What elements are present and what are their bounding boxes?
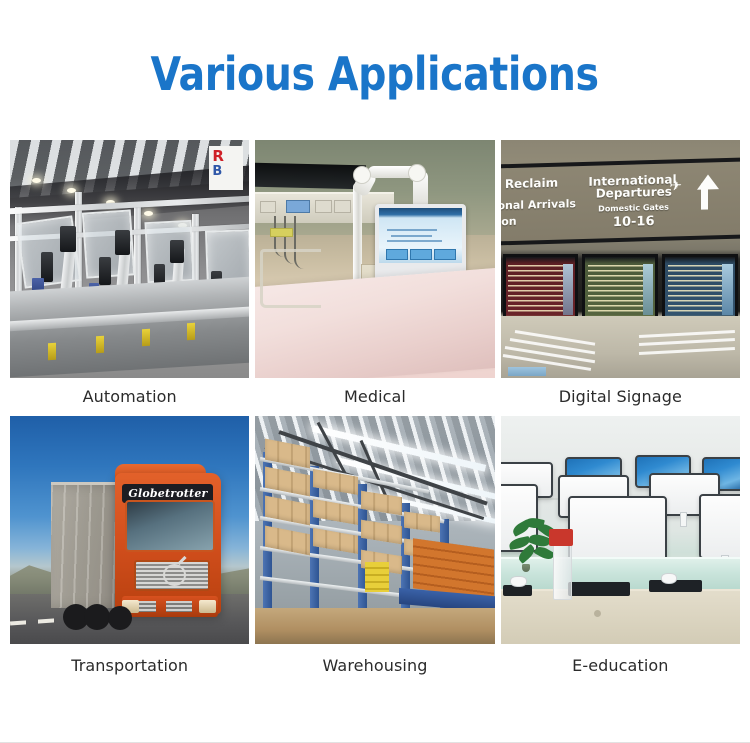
flight-display-screen[interactable] xyxy=(582,254,658,325)
caption-e-education: E-education xyxy=(501,644,740,686)
digital-signage-photo[interactable]: Reclaim onal Arrivals ion International … xyxy=(501,140,740,378)
sign-text-ion: ion xyxy=(501,215,517,229)
sign-text-arrivals: onal Arrivals xyxy=(501,197,576,212)
robot-joint xyxy=(115,230,130,255)
ceiling-lamp-icon xyxy=(144,211,153,216)
sign-text-domestic-gates: Domestic Gates xyxy=(598,203,669,214)
sign-text-departures: Departures xyxy=(596,185,672,201)
arrow-up-stem xyxy=(701,184,708,210)
application-card-digital-signage[interactable]: Reclaim onal Arrivals ion International … xyxy=(501,140,740,414)
spray-bottle[interactable] xyxy=(553,539,572,600)
caption-automation: Automation xyxy=(10,378,249,414)
keyboard[interactable] xyxy=(568,582,630,596)
booth-sign-red-letter: R xyxy=(212,147,224,165)
truck-windshield xyxy=(125,500,215,552)
flight-display-screen[interactable] xyxy=(662,254,738,325)
applications-page: Various Applications R B xyxy=(0,0,750,742)
terminal-window xyxy=(508,367,546,376)
wall-outlet xyxy=(260,201,276,214)
applications-row-2: Globetrotter Transportation xyxy=(10,416,740,686)
wall-label xyxy=(270,228,294,237)
wall-outlet xyxy=(286,200,310,214)
terminal-ceiling-lower xyxy=(501,316,740,378)
flight-side-panel xyxy=(563,264,573,315)
caption-warehousing: Warehousing xyxy=(255,644,494,686)
transportation-photo[interactable]: Globetrotter xyxy=(10,416,249,644)
flight-display-screen[interactable] xyxy=(503,254,579,325)
application-card-transportation[interactable]: Globetrotter Transportation xyxy=(10,416,249,686)
caption-transportation: Transportation xyxy=(10,644,249,686)
bumper-vent xyxy=(166,601,192,612)
page-title: Various Applications xyxy=(151,51,599,97)
caption-digital-signage: Digital Signage xyxy=(501,378,740,414)
application-card-medical[interactable]: 37 Medical xyxy=(255,140,494,414)
wall-outlet xyxy=(315,200,331,214)
plant-pot xyxy=(522,564,530,572)
truck-brand-text: Globetrotter xyxy=(128,487,207,500)
flight-display-screens xyxy=(501,254,740,325)
wall-outlet xyxy=(334,200,350,214)
conveyor-marker xyxy=(48,343,56,360)
truck-headlamp xyxy=(199,600,216,614)
overhead-sign-board: Reclaim onal Arrivals ion International … xyxy=(501,158,740,246)
robot-joint xyxy=(170,240,184,263)
flight-side-panel xyxy=(722,264,732,315)
applications-row-1: R B xyxy=(10,140,740,414)
medical-monitor-screen[interactable] xyxy=(379,208,462,263)
e-education-photo[interactable] xyxy=(501,416,740,644)
robot-gripper xyxy=(99,257,111,285)
ceiling-lamp-icon xyxy=(32,178,41,183)
flight-rows xyxy=(508,265,562,313)
medical-photo[interactable]: 37 xyxy=(255,140,494,378)
monitor-stand xyxy=(680,512,687,528)
flight-rows xyxy=(668,265,722,313)
wall-dark-panel xyxy=(255,162,365,189)
booth-sign: R B xyxy=(209,146,243,190)
spray-bottle-cap xyxy=(549,529,572,546)
sign-text-reclaim: Reclaim xyxy=(505,177,558,192)
airplane-icon: ✈ xyxy=(670,178,683,193)
bed-rail xyxy=(260,249,320,307)
classroom-monitor[interactable] xyxy=(699,494,740,560)
application-card-automation[interactable]: R B xyxy=(10,140,249,414)
flight-side-panel xyxy=(643,264,653,315)
caption-medical: Medical xyxy=(255,378,494,414)
conveyor-marker xyxy=(96,336,104,353)
robot-joint xyxy=(60,226,76,252)
sign-text-gate-range: 10-16 xyxy=(613,214,655,230)
desk-knob[interactable] xyxy=(594,610,601,617)
conveyor-marker xyxy=(142,329,150,346)
yellow-bins xyxy=(365,562,389,592)
floor-level-boxes xyxy=(255,608,494,644)
classroom-monitor[interactable] xyxy=(568,496,668,564)
applications-grid: R B xyxy=(0,140,750,686)
booth-sign-blue-letter: B xyxy=(212,164,243,179)
conveyor-marker xyxy=(187,323,195,340)
desk-front-panel xyxy=(501,589,740,644)
title-bar: Various Applications xyxy=(0,0,750,140)
application-card-warehousing[interactable]: Warehousing xyxy=(255,416,494,686)
automation-photo[interactable]: R B xyxy=(10,140,249,378)
flight-rows xyxy=(588,265,642,313)
application-card-e-education[interactable]: E-education xyxy=(501,416,740,686)
warehousing-photo[interactable] xyxy=(255,416,494,644)
